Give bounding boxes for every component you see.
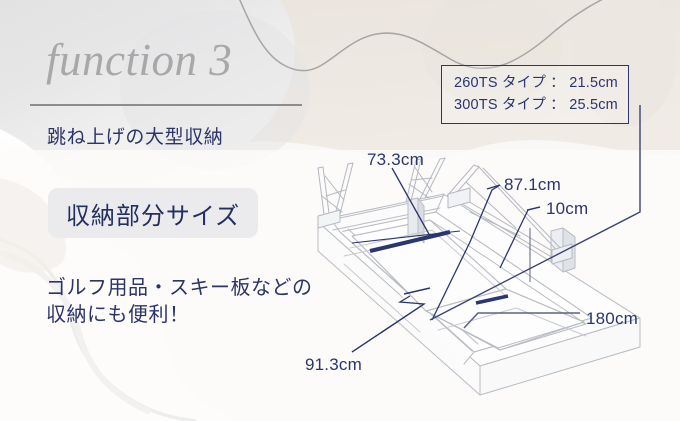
type-row-260ts: 260TS タイプ ： 21.5cm bbox=[454, 72, 618, 94]
note-line-1: ゴルフ用品・スキー板などの bbox=[46, 275, 313, 302]
promo-banner: function 3 跳ね上げの大型収納 収納部分サイズ ゴルフ用品・スキー板な… bbox=[0, 0, 680, 421]
type-spec-box: 260TS タイプ ： 21.5cm 300TS タイプ ： 25.5cm bbox=[441, 65, 629, 124]
size-badge-label: 収納部分サイズ bbox=[48, 188, 258, 238]
text-column: function 3 跳ね上げの大型収納 収納部分サイズ ゴルフ用品・スキー板な… bbox=[0, 0, 340, 421]
subtitle: 跳ね上げの大型収納 bbox=[47, 122, 223, 149]
size-badge: 収納部分サイズ bbox=[48, 188, 258, 238]
note-line-2: 収納にも便利！ bbox=[46, 302, 313, 329]
title-divider bbox=[30, 104, 302, 106]
dimension-label-10cm: 10cm bbox=[546, 199, 588, 219]
dimension-label-180cm: 180cm bbox=[586, 309, 638, 329]
type-row-300ts: 300TS タイプ ： 25.5cm bbox=[454, 94, 618, 116]
dimension-label-73-3cm: 73.3cm bbox=[367, 150, 424, 170]
note-text: ゴルフ用品・スキー板などの 収納にも便利！ bbox=[46, 275, 313, 329]
dimension-label-91-3cm: 91.3cm bbox=[305, 355, 362, 375]
page-title: function 3 bbox=[46, 38, 232, 83]
dimension-label-87-1cm: 87.1cm bbox=[504, 175, 561, 195]
